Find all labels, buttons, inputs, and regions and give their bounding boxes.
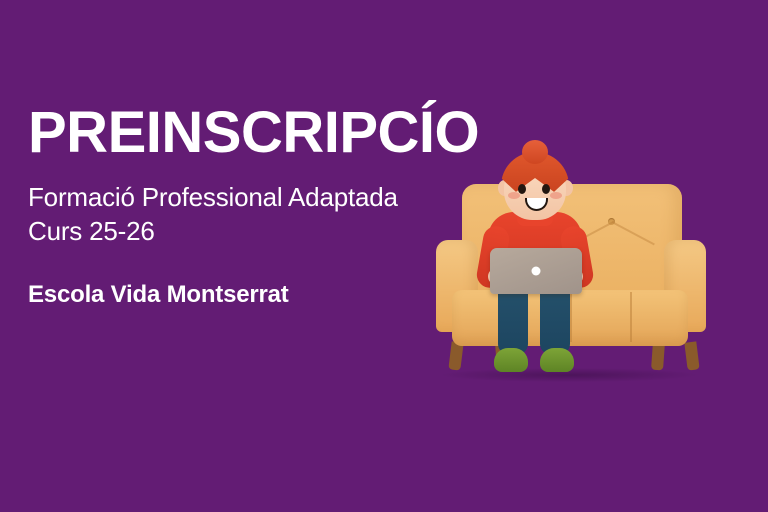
poster-subtitle: Formació Professional Adaptada Curs 25-2… — [28, 180, 458, 249]
cheek-blush-left — [508, 192, 520, 199]
shoe-left-icon — [494, 348, 528, 372]
illustration-person-on-sofa — [424, 140, 714, 400]
sofa-cushion-seam — [630, 292, 632, 342]
hair-bun-icon — [522, 140, 548, 164]
tuft-seam — [612, 221, 655, 245]
eye-right — [542, 184, 550, 194]
eye-left — [518, 184, 526, 194]
cheek-blush-right — [550, 192, 562, 199]
character-graphic — [476, 140, 596, 380]
poster-text-block: PREINSCRIPCÍO Formació Professional Adap… — [28, 104, 458, 309]
page-title: PREINSCRIPCÍO — [28, 104, 458, 162]
promotional-poster: PREINSCRIPCÍO Formació Professional Adap… — [0, 0, 768, 512]
laptop-logo-dot — [532, 267, 541, 276]
shoe-right-icon — [540, 348, 574, 372]
school-name: Escola Vida Montserrat — [28, 281, 458, 309]
subtitle-line-course-year: Curs 25-26 — [28, 214, 458, 248]
subtitle-line-program: Formació Professional Adaptada — [28, 182, 398, 212]
sofa-leg-icon — [684, 341, 699, 370]
laptop-icon — [490, 248, 582, 294]
